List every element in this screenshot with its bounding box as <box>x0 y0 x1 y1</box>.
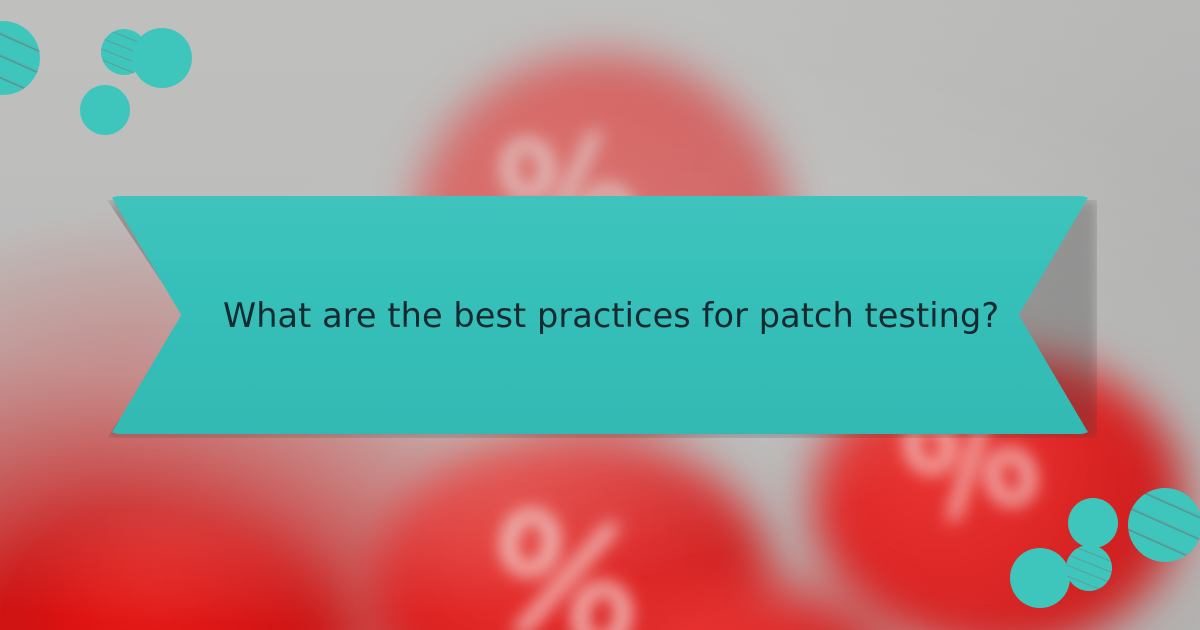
title-ribbon: What are the best practices for patch te… <box>105 196 1095 434</box>
social-card: % % % What are the best practices for pa… <box>0 0 1200 630</box>
circle-plain-medium-2 <box>1068 498 1118 548</box>
circle-plain-medium <box>80 85 130 135</box>
circle-plain-large-2 <box>1010 548 1070 608</box>
circle-striped-large-2 <box>1128 488 1200 562</box>
page-title: What are the best practices for patch te… <box>223 196 983 434</box>
percent-symbol-bottom: % <box>474 488 657 630</box>
circle-striped-small-2 <box>1066 545 1112 591</box>
circle-plain-large <box>132 28 192 88</box>
